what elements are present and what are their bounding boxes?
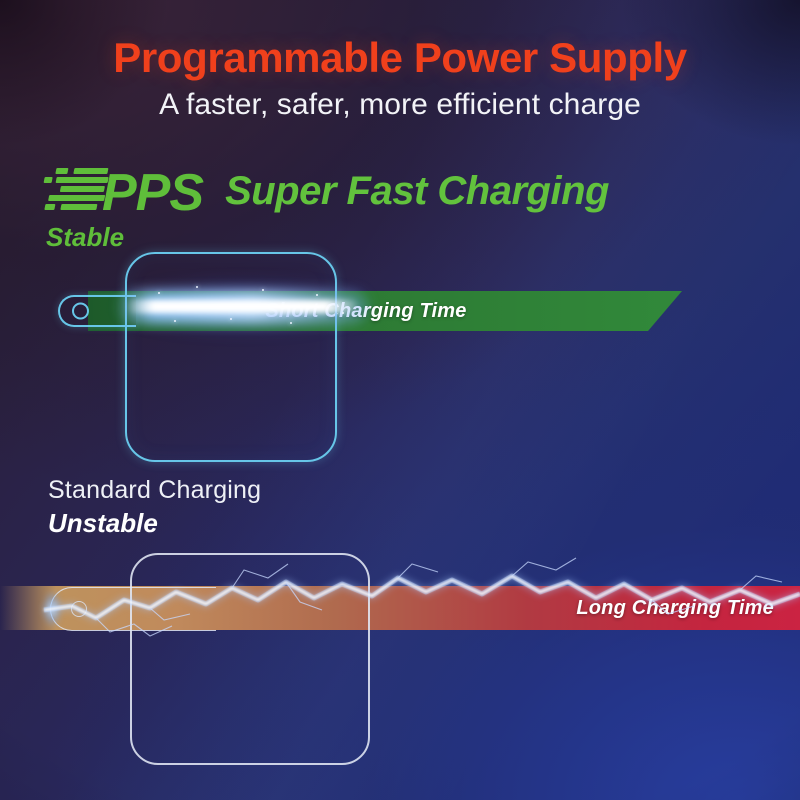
page-subtitle: A faster, safer, more efficient charge: [0, 88, 800, 122]
pps-logo-row: PPS Super Fast Charging: [44, 166, 609, 218]
unstable-label: Unstable: [48, 508, 261, 539]
beam-core: [126, 300, 358, 313]
speed-lines-icon: [39, 166, 111, 216]
infographic-poster: Programmable Power Supply A faster, safe…: [0, 0, 800, 800]
standard-charging-block: Standard Charging Unstable: [48, 476, 261, 539]
standard-charging-title: Standard Charging: [48, 476, 261, 505]
unstable-lightning-bolt: [0, 548, 800, 668]
pps-logo-text: PPS: [102, 170, 203, 218]
pps-logo-block: PPS Super Fast Charging Stable: [44, 166, 609, 253]
super-fast-charging-headline: Super Fast Charging: [225, 169, 609, 214]
page-title: Programmable Power Supply: [0, 34, 800, 82]
stable-label: Stable: [46, 222, 609, 253]
stable-energy-beam: [110, 272, 370, 342]
